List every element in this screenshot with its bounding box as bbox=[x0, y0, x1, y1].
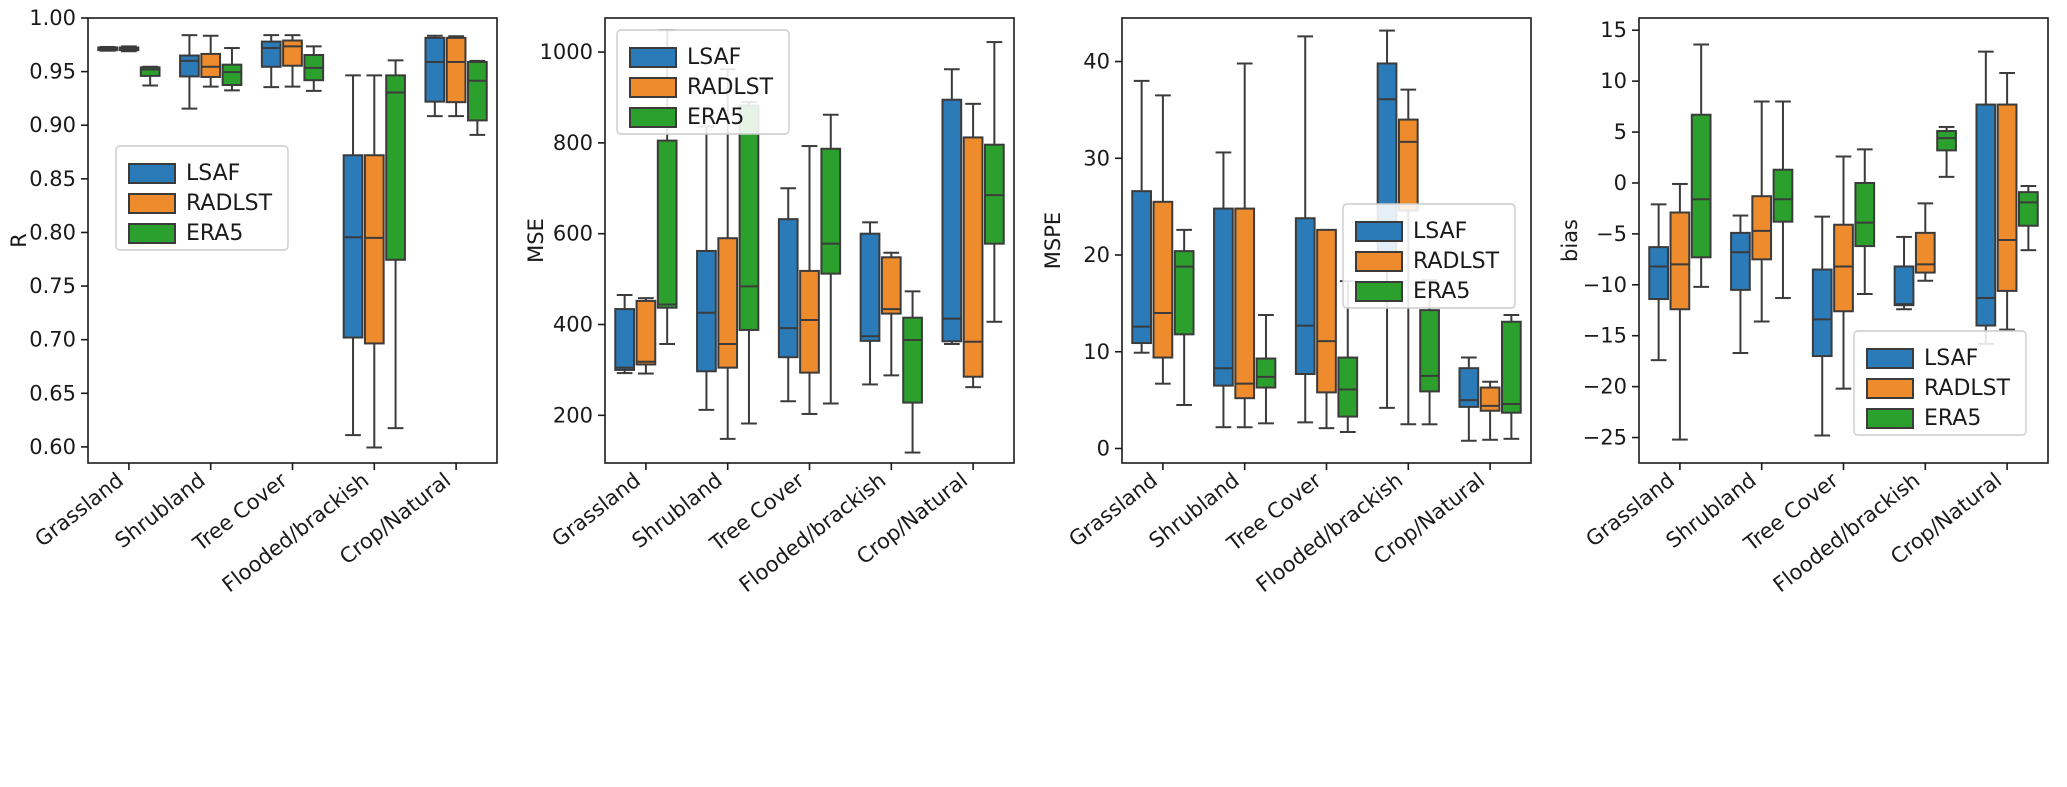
x-axis-ticks: GrasslandShrublandTree CoverFlooded/brac… bbox=[1064, 463, 1490, 597]
box-plot-item bbox=[468, 61, 487, 135]
panel-mse: 2004006008001000MSEGrasslandShrublandTre… bbox=[517, 0, 1034, 787]
y-tick-label: 0.65 bbox=[29, 381, 76, 405]
box-plot-item bbox=[821, 115, 840, 404]
legend-swatch-radlst bbox=[630, 78, 676, 97]
legend-swatch-radlst bbox=[1356, 252, 1402, 271]
y-axis-label: MSPE bbox=[1041, 212, 1065, 269]
x-tick-label: Flooded/brackish bbox=[735, 468, 891, 597]
legend-label-lsaf: LSAF bbox=[186, 161, 240, 186]
y-axis-ticks: 010203040 bbox=[1083, 50, 1122, 461]
box-plot-item bbox=[201, 36, 220, 87]
box-plot-item bbox=[861, 222, 880, 384]
y-axis-label: R bbox=[7, 233, 31, 248]
box-plot-item bbox=[344, 75, 363, 435]
box-plot-item bbox=[697, 127, 716, 410]
box-plot-item bbox=[1481, 382, 1500, 440]
legend-label-era5: ERA5 bbox=[186, 221, 243, 246]
legend-swatch-lsaf bbox=[1867, 349, 1913, 368]
legend: LSAFRADLSTERA5 bbox=[617, 30, 789, 134]
y-tick-label: 5 bbox=[1614, 120, 1627, 144]
panel-mspe: 010203040MSPEGrasslandShrublandTree Cove… bbox=[1034, 0, 1551, 787]
legend-swatch-era5 bbox=[1867, 409, 1913, 428]
box-plot-item bbox=[98, 47, 117, 51]
y-tick-label: 800 bbox=[553, 131, 593, 155]
legend: LSAFRADLSTERA5 bbox=[1343, 204, 1515, 308]
y-tick-label: −15 bbox=[1583, 324, 1627, 348]
y-axis-ticks: −25−20−15−10−5051015 bbox=[1583, 18, 1639, 449]
y-tick-label: 0.60 bbox=[29, 435, 76, 459]
box-plot-item bbox=[740, 102, 759, 423]
legend-label-radlst: RADLST bbox=[1924, 376, 2011, 401]
legend-swatch-era5 bbox=[630, 108, 676, 127]
y-tick-label: 0.85 bbox=[29, 167, 76, 191]
plot-area-mse: 2004006008001000MSEGrasslandShrublandTre… bbox=[517, 0, 1034, 787]
box-plot-item bbox=[964, 104, 983, 387]
y-tick-label: −25 bbox=[1583, 426, 1627, 450]
y-tick-label: 0.80 bbox=[29, 220, 76, 244]
y-tick-label: −5 bbox=[1596, 222, 1627, 246]
legend-label-lsaf: LSAF bbox=[1924, 346, 1978, 371]
box-plot-item bbox=[1855, 149, 1874, 294]
y-tick-label: 0 bbox=[1097, 436, 1110, 460]
y-tick-label: 0.90 bbox=[29, 113, 76, 137]
box-plot-item bbox=[1235, 63, 1254, 427]
box-plot-item bbox=[2019, 186, 2038, 250]
box-plot-item bbox=[903, 291, 922, 452]
box-plot-item bbox=[1649, 204, 1668, 360]
y-tick-label: 30 bbox=[1083, 146, 1110, 170]
panel-r: 0.600.650.700.750.800.850.900.951.00RGra… bbox=[0, 0, 517, 787]
legend-label-radlst: RADLST bbox=[687, 75, 774, 100]
box-plot-item bbox=[800, 146, 819, 414]
box-plot-item bbox=[365, 75, 384, 447]
y-tick-label: 600 bbox=[553, 222, 593, 246]
legend-swatch-lsaf bbox=[1356, 222, 1402, 241]
legend-label-era5: ERA5 bbox=[687, 105, 744, 130]
legend: LSAFRADLSTERA5 bbox=[116, 146, 288, 250]
y-tick-label: 200 bbox=[553, 403, 593, 427]
legend-label-era5: ERA5 bbox=[1413, 279, 1470, 304]
box-plot-item bbox=[985, 42, 1004, 322]
panel-bias: −25−20−15−10−5051015biasGrasslandShrubla… bbox=[1551, 0, 2067, 787]
box-plot-item bbox=[1671, 184, 1690, 440]
legend-swatch-radlst bbox=[1867, 379, 1913, 398]
y-tick-label: 0.75 bbox=[29, 274, 76, 298]
box-plot-item bbox=[1154, 95, 1173, 383]
figure-root: 0.600.650.700.750.800.850.900.951.00RGra… bbox=[0, 0, 2067, 787]
x-axis-ticks: GrasslandShrublandTree CoverFlooded/brac… bbox=[30, 463, 456, 597]
box-plot-item bbox=[1916, 203, 1935, 280]
legend-label-era5: ERA5 bbox=[1924, 406, 1981, 431]
x-axis-ticks: GrasslandShrublandTree CoverFlooded/brac… bbox=[547, 463, 973, 597]
y-axis-label: bias bbox=[1558, 219, 1582, 262]
box-plot-item bbox=[386, 60, 405, 428]
y-tick-label: 400 bbox=[553, 313, 593, 337]
x-axis-ticks: GrasslandShrublandTree CoverFlooded/brac… bbox=[1581, 463, 2007, 597]
y-tick-label: 15 bbox=[1600, 18, 1627, 42]
legend-swatch-era5 bbox=[129, 224, 175, 243]
box-plot-item bbox=[779, 188, 798, 401]
legend-label-lsaf: LSAF bbox=[1413, 219, 1467, 244]
box-plot-item bbox=[304, 46, 323, 91]
x-tick-label: Flooded/brackish bbox=[1769, 468, 1925, 597]
y-tick-label: 10 bbox=[1600, 69, 1627, 93]
plot-area-r: 0.600.650.700.750.800.850.900.951.00RGra… bbox=[0, 0, 517, 787]
y-axis-ticks: 0.600.650.700.750.800.850.900.951.00 bbox=[29, 6, 88, 459]
box-plot-item bbox=[942, 69, 961, 344]
legend: LSAFRADLSTERA5 bbox=[1854, 331, 2026, 435]
y-tick-label: 20 bbox=[1083, 243, 1110, 267]
legend-label-lsaf: LSAF bbox=[687, 45, 741, 70]
box-plot-item bbox=[1317, 230, 1336, 428]
box-plot-item bbox=[1502, 315, 1521, 439]
y-axis-ticks: 2004006008001000 bbox=[540, 40, 605, 427]
plot-area-mspe: 010203040MSPEGrasslandShrublandTree Cove… bbox=[1034, 0, 1551, 787]
plot-area-bias: −25−20−15−10−5051015biasGrasslandShrubla… bbox=[1551, 0, 2067, 787]
box-plot-item bbox=[1731, 216, 1750, 353]
box-plot-item bbox=[1895, 237, 1914, 309]
y-axis-label: MSE bbox=[524, 218, 548, 263]
box-plot-item bbox=[1214, 152, 1233, 427]
legend-swatch-era5 bbox=[1356, 282, 1402, 301]
y-tick-label: 1.00 bbox=[29, 6, 76, 30]
y-tick-label: −10 bbox=[1583, 273, 1627, 297]
box-plot-item bbox=[180, 35, 199, 108]
box-plot-item bbox=[283, 35, 302, 86]
box-plot-item bbox=[1813, 217, 1832, 436]
y-tick-label: −20 bbox=[1583, 375, 1627, 399]
y-tick-label: 10 bbox=[1083, 340, 1110, 364]
box-plot-item bbox=[1752, 102, 1771, 322]
y-tick-label: 0 bbox=[1614, 171, 1627, 195]
box-plot-item bbox=[1175, 230, 1194, 405]
box-plot-item bbox=[141, 67, 160, 86]
box-plot-item bbox=[425, 36, 444, 116]
y-tick-label: 0.95 bbox=[29, 60, 76, 84]
box-plot-item bbox=[1257, 315, 1276, 423]
y-tick-label: 1000 bbox=[540, 40, 593, 64]
box-plot-item bbox=[223, 48, 242, 90]
box-plot-item bbox=[1132, 81, 1151, 353]
box-plot-item bbox=[1296, 36, 1315, 422]
box-plot-item bbox=[1998, 73, 2017, 330]
box-plot-item bbox=[1774, 102, 1793, 299]
legend-swatch-lsaf bbox=[630, 48, 676, 67]
box-plot-item bbox=[447, 36, 466, 116]
y-tick-label: 40 bbox=[1083, 50, 1110, 74]
box-plot-item bbox=[1692, 44, 1711, 286]
x-tick-label: Flooded/brackish bbox=[1252, 468, 1408, 597]
legend-swatch-lsaf bbox=[129, 164, 175, 183]
box-plot-item bbox=[1937, 127, 1956, 177]
box-plot-item bbox=[262, 35, 281, 87]
box-plot-item bbox=[1976, 52, 1995, 344]
y-tick-label: 0.70 bbox=[29, 328, 76, 352]
box-plot-item bbox=[120, 46, 139, 51]
box-plot-item bbox=[1834, 156, 1853, 388]
legend-label-radlst: RADLST bbox=[186, 191, 273, 216]
legend-label-radlst: RADLST bbox=[1413, 249, 1500, 274]
x-tick-label: Flooded/brackish bbox=[218, 468, 374, 597]
legend-swatch-radlst bbox=[129, 194, 175, 213]
box-plot-item bbox=[615, 295, 634, 373]
box-plot-item bbox=[637, 298, 656, 373]
box-plot-item bbox=[1459, 358, 1478, 441]
box-plot-item bbox=[882, 253, 901, 376]
